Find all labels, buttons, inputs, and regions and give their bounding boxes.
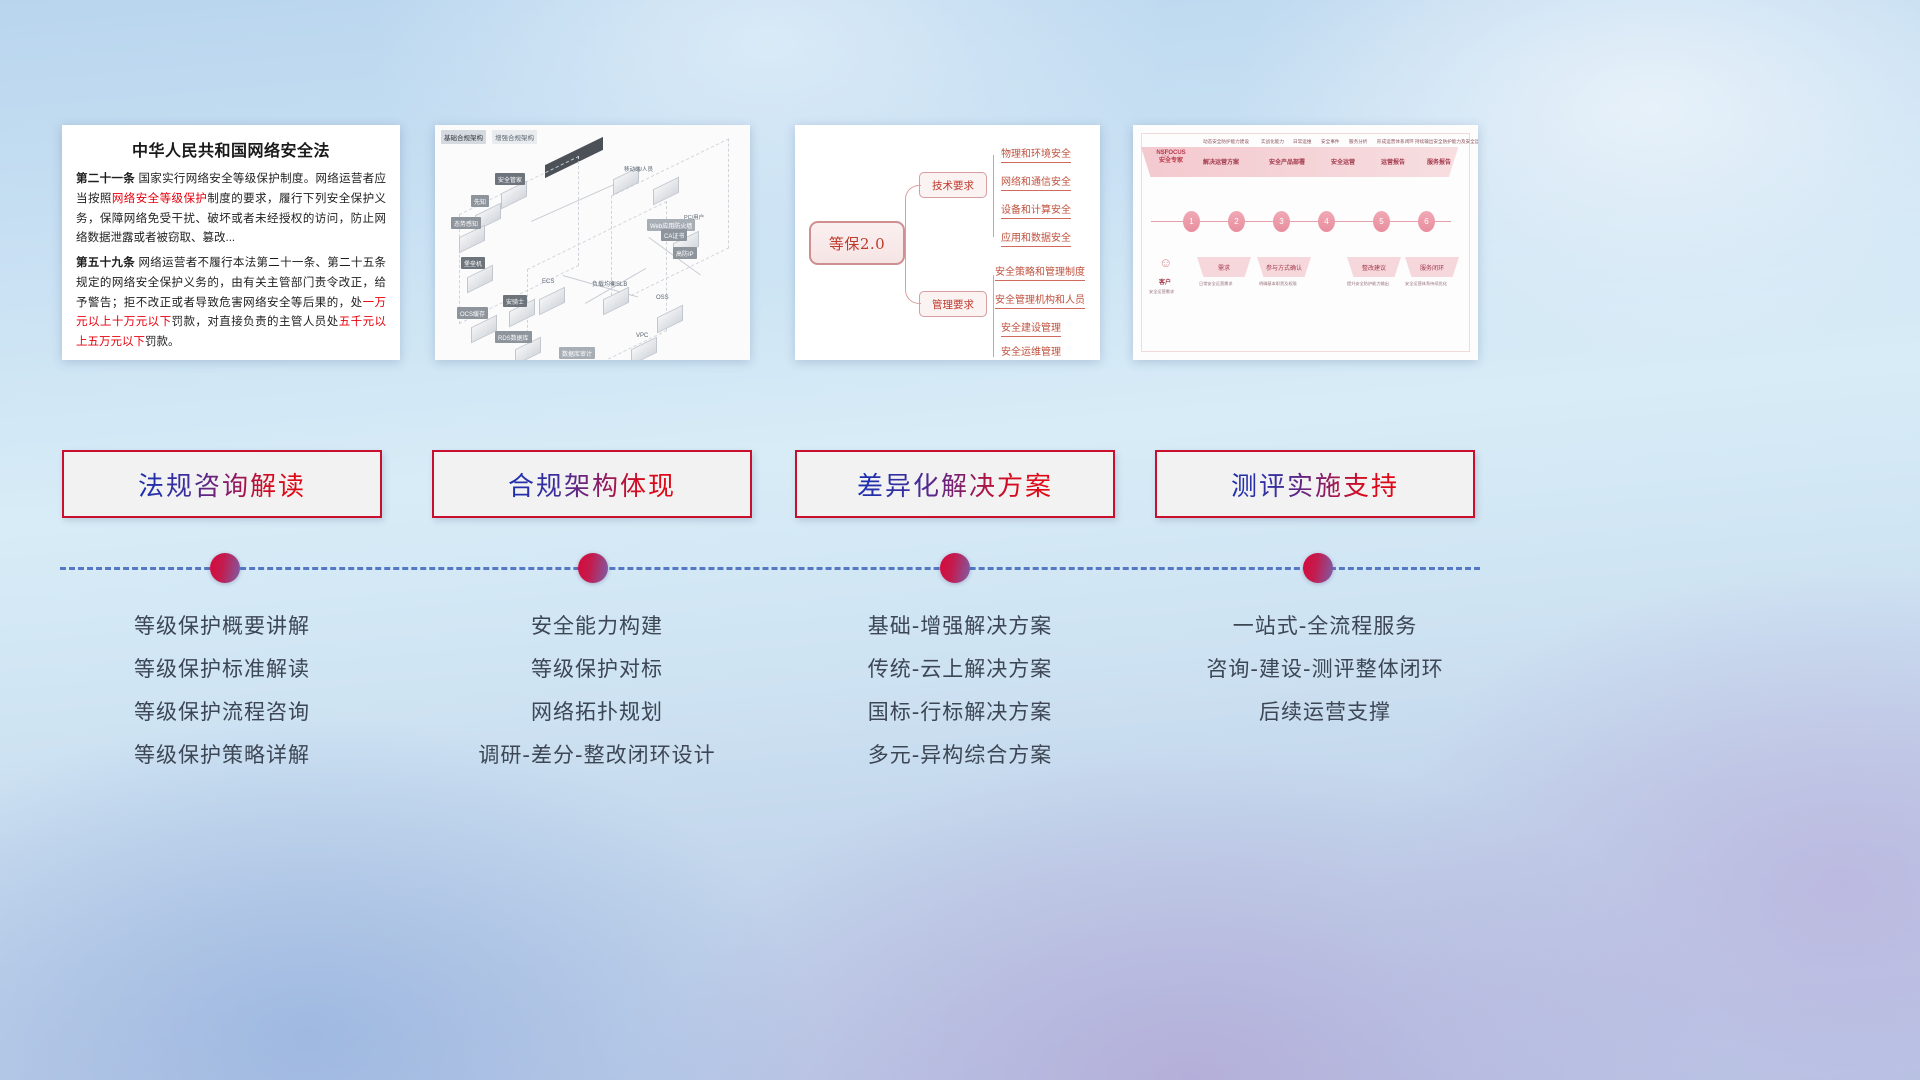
- nsfocus-diagram: ☺ NSFOCUS 安全专家 动态安全防护能力建设 实战化能力 日常运维 安全事…: [1133, 125, 1478, 360]
- nsfocus-chevron: 需求: [1197, 257, 1251, 277]
- title-box-compliance-architecture[interactable]: 合规架构体现: [432, 450, 752, 518]
- mindmap-branch-management: 管理要求: [919, 291, 987, 317]
- arch-node: [467, 271, 497, 293]
- arch-tag-ecs: ECS: [539, 277, 557, 286]
- list-item: 多元-异构综合方案: [795, 734, 1125, 777]
- title-text: 法规咨询解读: [138, 466, 306, 503]
- nsfocus-brand-line1: NSFOCUS: [1149, 149, 1193, 157]
- nsfocus-top-label: 安全事件: [1321, 139, 1339, 145]
- card-nsfocus-service-timeline: ☺ NSFOCUS 安全专家 动态安全防护能力建设 实战化能力 日常运维 安全事…: [1133, 125, 1478, 360]
- timeline-dashed-line: [60, 567, 1480, 570]
- law-title: 中华人民共和国网络安全法: [76, 137, 386, 161]
- list-item: 基础-增强解决方案: [795, 605, 1125, 648]
- arch-tag-bastion-host: 堡垒机: [461, 257, 485, 269]
- mindmap-spine-technical: [993, 155, 994, 237]
- title-box-assessment-support[interactable]: 测评实施支持: [1155, 450, 1475, 518]
- arch-node: [539, 293, 569, 315]
- list-item: 等级保护标准解读: [62, 648, 382, 691]
- detail-list-compliance-architecture: 安全能力构建 等级保护对标 网络拓扑规划 调研-差分-整改闭环设计: [432, 605, 762, 777]
- nsfocus-step: 4: [1318, 211, 1335, 232]
- list-item: 后续运营支撑: [1155, 691, 1495, 734]
- nsfocus-top-label: 实战化能力: [1261, 139, 1284, 145]
- mindmap-leaf-application: 应用和数据安全: [1001, 229, 1071, 247]
- mindmap-leaf-network: 网络和通信安全: [1001, 173, 1071, 191]
- nsfocus-client-role-sub: 安全运营需求: [1149, 289, 1174, 295]
- mindmap-diagram: 等保2.0 技术要求 管理要求 物理和环境安全 网络和通信安全 设备和计算安全 …: [795, 125, 1100, 360]
- list-item: 国标-行标解决方案: [795, 691, 1125, 734]
- list-item: 安全能力构建: [432, 605, 762, 648]
- arch-node: [653, 183, 683, 205]
- architecture-tabs: 基础合规架构 增强合规架构: [441, 130, 537, 144]
- mindmap-leaf-policy: 安全策略和管理制度: [995, 263, 1085, 281]
- list-item: 等级保护流程咨询: [62, 691, 382, 734]
- nsfocus-chevron: 参与方式确认: [1257, 257, 1311, 277]
- arch-tag-ca-cert: CA证书: [661, 229, 687, 241]
- nsfocus-chevron-sub: 安全运营体系持续优化: [1405, 281, 1447, 287]
- nsfocus-top-label: 动态安全防护能力建设: [1203, 139, 1249, 145]
- mindmap-connector: [905, 243, 921, 304]
- arch-node: [501, 187, 531, 209]
- arch-node: [515, 343, 545, 360]
- nsfocus-mid-label: 安全产品部署: [1269, 157, 1305, 166]
- nsfocus-step: 1: [1183, 211, 1200, 232]
- arch-node: [613, 173, 643, 195]
- arch-tag-situational-awareness: 态势感知: [451, 217, 481, 229]
- mindmap-leaf-ops: 安全运维管理: [1001, 343, 1061, 360]
- card-dengbao-mindmap: 等保2.0 技术要求 管理要求 物理和环境安全 网络和通信安全 设备和计算安全 …: [795, 125, 1100, 360]
- mindmap-leaf-build: 安全建设管理: [1001, 319, 1061, 337]
- detail-list-assessment-support: 一站式-全流程服务 咨询-建设-测评整体闭环 后续运营支撑: [1155, 605, 1495, 734]
- arch-tag-slb: 负载均衡SLB: [589, 277, 630, 289]
- timeline-dot-4: [1303, 553, 1333, 583]
- arch-tag-oss: OSS: [653, 293, 672, 302]
- title-text: 差异化解决方案: [857, 466, 1053, 503]
- timeline-dot-1: [210, 553, 240, 583]
- architecture-tab-basic[interactable]: 基础合规架构: [441, 130, 486, 144]
- mindmap-root-node: 等保2.0: [809, 221, 905, 265]
- nsfocus-top-label: 持续输出安全防护能力及安全运营价值: [1415, 139, 1478, 145]
- card-cybersecurity-law: 中华人民共和国网络安全法 第二十一条 国家实行网络安全等级保护制度。网络运营者应…: [62, 125, 400, 360]
- timeline: [60, 566, 1480, 570]
- nsfocus-step: 6: [1418, 211, 1435, 232]
- article-59-text-c: 罚款。: [145, 336, 180, 348]
- arch-tag-xianzhi: 先知: [471, 195, 489, 207]
- arch-node: [459, 231, 489, 253]
- architecture-diagram: 基础合规架构 增强合规架构 安全管家 先知 态势感知 堡垒机 安骑士: [435, 125, 750, 360]
- article-21-label: 第二十一条: [76, 173, 135, 185]
- list-item: 咨询-建设-测评整体闭环: [1155, 648, 1495, 691]
- nsfocus-chevron-sub: 日常安全运营需求: [1199, 281, 1233, 287]
- timeline-dot-3: [940, 553, 970, 583]
- arch-tag-anqishi: 安骑士: [503, 295, 527, 307]
- arch-node: [603, 293, 633, 315]
- reference-cards-row: 中华人民共和国网络安全法 第二十一条 国家实行网络安全等级保护制度。网络运营者应…: [0, 125, 1920, 360]
- nsfocus-mid-label: 解决运营方案: [1203, 157, 1239, 166]
- mindmap-leaf-device: 设备和计算安全: [1001, 201, 1071, 219]
- client-person-icon: ☺: [1159, 255, 1172, 270]
- nsfocus-chevron: 整改建议: [1347, 257, 1401, 277]
- nsfocus-top-label: 服务分析: [1349, 139, 1367, 145]
- detail-list-regulation-consulting: 等级保护概要讲解 等级保护标准解读 等级保护流程咨询 等级保护策略详解: [62, 605, 382, 777]
- arch-node: [631, 343, 661, 360]
- mindmap-connector: [905, 185, 921, 243]
- nsfocus-mid-label: 服务报告: [1427, 157, 1451, 166]
- nsfocus-mid-label: 安全运营: [1331, 157, 1355, 166]
- mindmap-leaf-physical: 物理和环境安全: [1001, 145, 1071, 163]
- arch-tag-security-butler: 安全管家: [495, 173, 525, 185]
- arch-node: [657, 311, 687, 333]
- arch-node: [509, 305, 539, 327]
- list-item: 等级保护对标: [432, 648, 762, 691]
- mindmap-leaf-org: 安全管理机构和人员: [995, 291, 1085, 309]
- timeline-dot-2: [578, 553, 608, 583]
- arch-tag-mobile-user: 移动端/人员: [621, 163, 656, 174]
- arch-tag-anti-ddos-ip: 高防IP: [673, 247, 697, 259]
- title-box-regulation-consulting[interactable]: 法规咨询解读: [62, 450, 382, 518]
- arch-tag-db-audit: 数据库审计: [559, 347, 595, 359]
- architecture-tab-enhanced[interactable]: 增强合规架构: [492, 130, 537, 144]
- list-item: 等级保护概要讲解: [62, 605, 382, 648]
- title-box-differentiated-solution[interactable]: 差异化解决方案: [795, 450, 1115, 518]
- list-item: 等级保护策略详解: [62, 734, 382, 777]
- section-titles-row: 法规咨询解读 合规架构体现 差异化解决方案 测评实施支持: [0, 450, 1920, 518]
- nsfocus-step: 3: [1273, 211, 1290, 232]
- nsfocus-step: 2: [1228, 211, 1245, 232]
- detail-list-differentiated-solution: 基础-增强解决方案 传统-云上解决方案 国标-行标解决方案 多元-异构综合方案: [795, 605, 1125, 777]
- law-article-21: 第二十一条 国家实行网络安全等级保护制度。网络运营者应当按照网络安全等级保护制度…: [76, 170, 386, 249]
- nsfocus-mid-label: 运营报告: [1381, 157, 1405, 166]
- list-item: 一站式-全流程服务: [1155, 605, 1495, 648]
- nsfocus-top-label: 形成运营体系闭环: [1377, 139, 1414, 145]
- article-59-label: 第五十九条: [76, 257, 135, 269]
- law-document: 中华人民共和国网络安全法 第二十一条 国家实行网络安全等级保护制度。网络运营者应…: [62, 125, 400, 360]
- nsfocus-step: 5: [1373, 211, 1390, 232]
- nsfocus-chevron-sub: 提升安全防护能力输出: [1347, 281, 1389, 287]
- title-text: 合规架构体现: [508, 466, 676, 503]
- arch-tag-pc-user: PC/用户: [681, 211, 707, 222]
- article-21-highlight: 网络安全等级保护: [112, 193, 208, 205]
- mindmap-spine-management: [993, 275, 994, 357]
- mindmap-branch-technical: 技术要求: [919, 172, 987, 198]
- nsfocus-client-role: 客户: [1159, 277, 1171, 286]
- nsfocus-brand-line2: 安全专家: [1149, 157, 1193, 165]
- nsfocus-chevron: 服务闭环: [1405, 257, 1459, 277]
- nsfocus-top-label: 日常运维: [1293, 139, 1311, 145]
- list-item: 网络拓扑规划: [432, 691, 762, 734]
- nsfocus-chevron-sub: 明确基本职责及权限: [1259, 281, 1297, 287]
- arch-tag-vpc: VPC: [633, 331, 651, 340]
- arch-tag-rds: RDS数据库: [495, 331, 532, 343]
- list-item: 调研-差分-整改闭环设计: [432, 734, 762, 777]
- nsfocus-brand: NSFOCUS 安全专家: [1149, 149, 1193, 165]
- law-article-59: 第五十九条 网络运营者不履行本法第二十一条、第二十五条规定的网络安全保护义务的，…: [76, 254, 386, 353]
- article-59-text-b: 罚款，对直接负责的主管人员处: [172, 316, 339, 328]
- title-text: 测评实施支持: [1231, 466, 1399, 503]
- list-item: 传统-云上解决方案: [795, 648, 1125, 691]
- card-compliance-architecture: 基础合规架构 增强合规架构 安全管家 先知 态势感知 堡垒机 安骑士: [435, 125, 750, 360]
- arch-tag-ocs-cache: OCS缓存: [457, 307, 488, 319]
